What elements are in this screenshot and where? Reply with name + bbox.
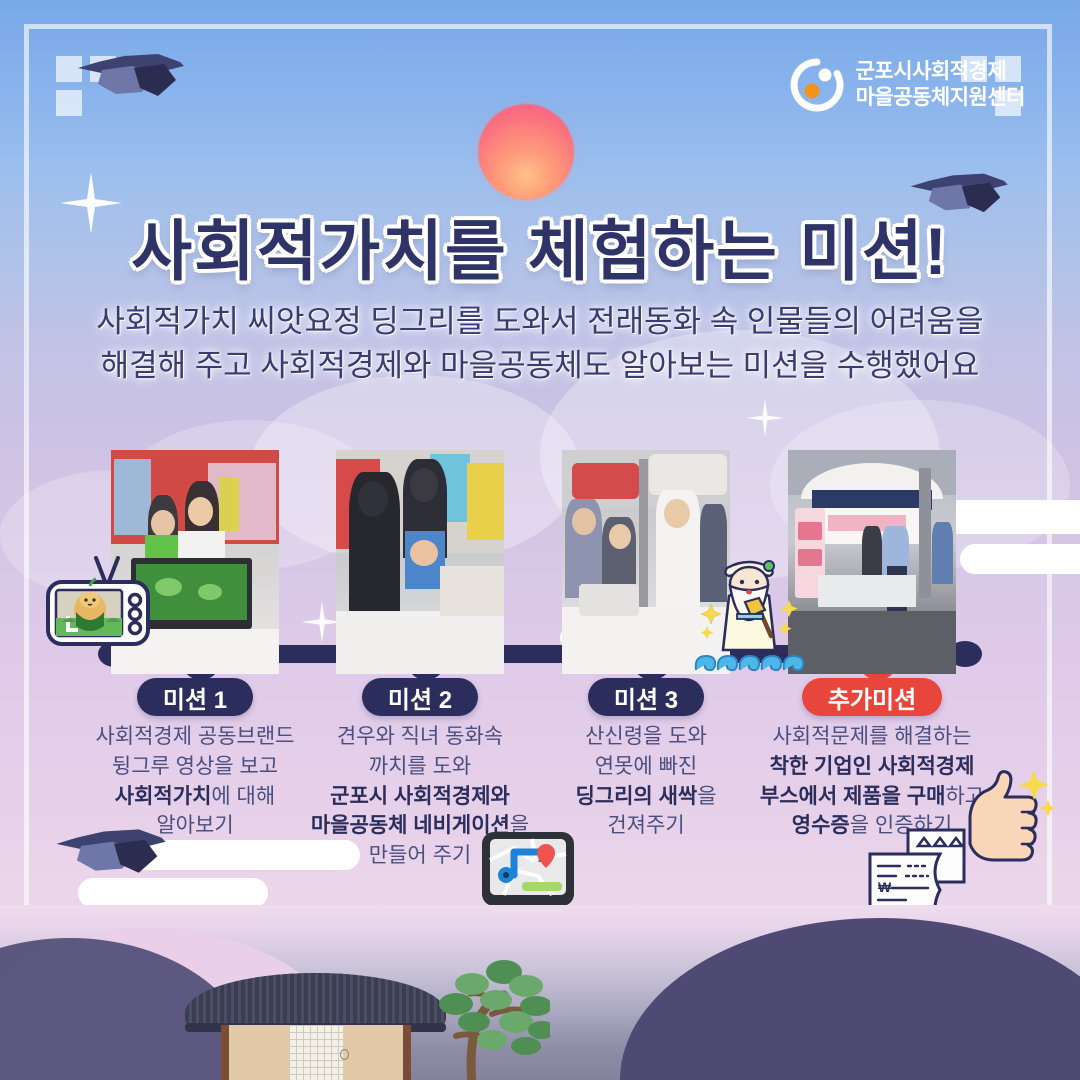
mission-badge-4[interactable]: 추가미션	[677, 678, 1067, 716]
photo-content	[788, 450, 956, 618]
caption-line: 딩그리의 새싹을	[516, 782, 776, 812]
caption-line: 알아보기	[65, 811, 325, 841]
mission-caption-3: 산신령을 도와연못에 빠진딩그리의 새싹을건져주기	[516, 722, 776, 841]
caption-text: 산신령을 도와연못에 빠진딩그리의 새싹을건져주기	[516, 722, 776, 841]
page-title: 사회적가치를 체험하는 미션!	[0, 198, 1080, 294]
caption-line: 사회적가치에 대해	[65, 782, 325, 812]
circle-dot-logo-icon	[790, 58, 844, 112]
badge-label: 추가미션	[802, 678, 942, 716]
photo-content	[336, 450, 504, 618]
caption-line: 견우와 직녀 동화속	[290, 722, 550, 752]
caption-line: 산신령을 도와	[516, 722, 776, 752]
retro-tv-icon	[44, 556, 156, 664]
hanok-door	[289, 1025, 343, 1080]
pine-tree-icon	[400, 960, 530, 1080]
mission-photo-4[interactable]	[788, 450, 956, 618]
logo-line-1: 군포시사회적경제	[856, 59, 1025, 85]
gps-navigation-icon	[480, 830, 576, 908]
hanok-house-icon	[213, 973, 418, 1080]
poster-root: 군포시사회적경제 마을공동체지원센터 사회적가치를 체험하는 미션! 사회적가치…	[0, 0, 1080, 1080]
caption-line: 사회적경제 공동브랜드	[65, 722, 325, 752]
caption-line: 까치를 도와	[290, 752, 550, 782]
subtitle-line-1: 사회적가치 씨앗요정 딩그리를 도와서 전래동화 속 인물들의 어려움을	[0, 300, 1080, 344]
thumbs-up-icon	[962, 768, 1054, 862]
mission-pin-2[interactable]	[336, 450, 504, 674]
hanok-pillar	[221, 1025, 229, 1080]
logo-line-2: 마을공동체지원센터	[856, 85, 1025, 111]
organization-logo: 군포시사회적경제 마을공동체지원센터	[790, 58, 1025, 112]
caption-line: 군포시 사회적경제와	[290, 782, 550, 812]
mission-caption-1: 사회적경제 공동브랜드뒹그루 영상을 보고사회적가치에 대해알아보기	[65, 722, 325, 841]
page-subtitle: 사회적가치 씨앗요정 딩그리를 도와서 전래동화 속 인물들의 어려움을 해결해…	[0, 300, 1080, 388]
subtitle-line-2: 해결해 주고 사회적경제와 마을공동체도 알아보는 미션을 수행했어요	[0, 344, 1080, 388]
blue-wave-icon	[692, 646, 804, 676]
caption-line: 사회적문제를 해결하는	[742, 722, 1002, 752]
caption-line: 뒹그루 영상을 보고	[65, 752, 325, 782]
mission-pin-4[interactable]	[788, 450, 956, 674]
logo-text: 군포시사회적경제 마을공동체지원센터	[856, 59, 1025, 110]
hanok-door-handle	[340, 1049, 349, 1060]
receipt-currency-symbol: ₩	[878, 879, 892, 895]
caption-text: 사회적경제 공동브랜드뒹그루 영상을 보고사회적가치에 대해알아보기	[65, 722, 325, 841]
flying-goose-icon	[72, 40, 192, 106]
mission-photo-2[interactable]	[336, 450, 504, 618]
caption-line: 연못에 빠진	[516, 752, 776, 782]
